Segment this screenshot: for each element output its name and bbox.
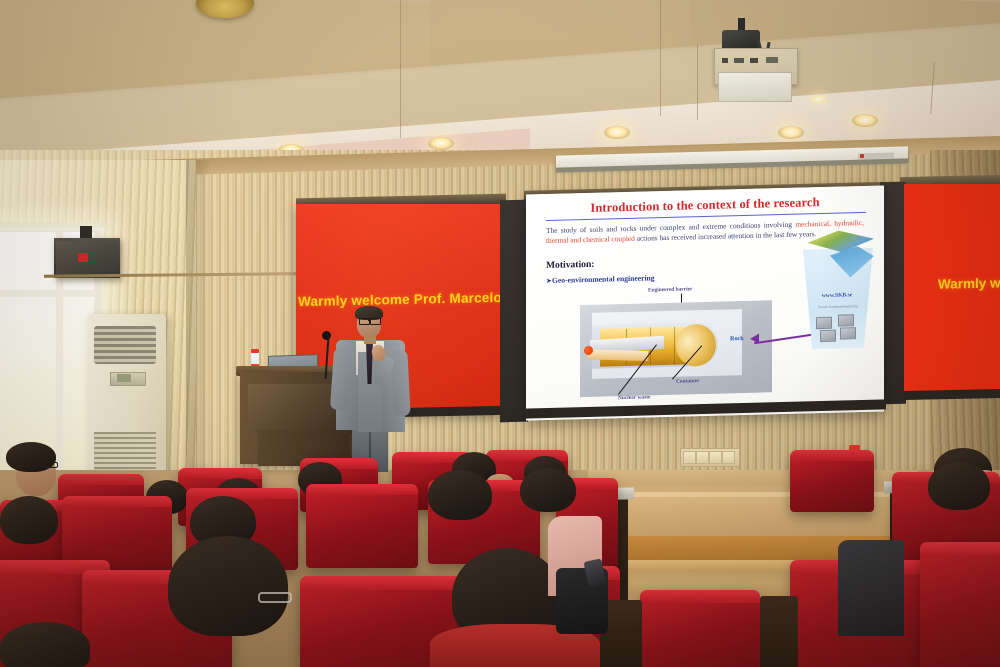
audience-head	[520, 468, 576, 512]
ceiling-cable	[697, 45, 698, 120]
diagram-label-nuclear-waste: Nuclear waste	[618, 394, 650, 401]
display-bezel-gap	[500, 200, 528, 423]
diagram-canister-seam	[674, 327, 675, 365]
projector-port	[766, 57, 778, 63]
ac-air-outlet-grille	[94, 326, 156, 364]
seat-headrest	[790, 450, 874, 461]
wall-switch[interactable]	[709, 451, 722, 464]
skb-repository-crate	[820, 330, 836, 342]
ceiling-seam	[660, 0, 661, 116]
audience-person	[838, 540, 904, 636]
seat-headrest	[178, 468, 262, 479]
auditorium-seat[interactable]	[920, 542, 1000, 667]
seat-headrest	[920, 542, 1000, 556]
eyeglasses-icon	[370, 318, 381, 325]
eyeglasses-icon	[258, 592, 292, 603]
wall-switch[interactable]	[696, 451, 709, 464]
projector-lens-panel	[718, 72, 792, 102]
ac-display	[117, 374, 131, 382]
window-mullion	[0, 290, 94, 297]
skb-repository-crate	[840, 327, 856, 339]
wall-switch[interactable]	[683, 451, 696, 464]
seat-headrest	[62, 496, 172, 507]
diagram-waste-rods	[588, 349, 648, 361]
ceiling-seam	[400, 0, 401, 138]
projector-port	[734, 58, 744, 63]
seat-headrest	[186, 488, 298, 499]
audience-head	[0, 622, 90, 667]
audience-head	[168, 536, 288, 636]
skb-repository-crate	[816, 317, 832, 329]
seat-armrest	[760, 596, 798, 667]
speaker-brand-logo	[78, 253, 88, 262]
recessed-downlight	[604, 126, 630, 139]
eyeglasses-icon	[30, 462, 58, 468]
presentation-slide: Introduction to the context of the resea…	[526, 185, 884, 420]
audience-head	[428, 470, 492, 520]
microphone-capsule	[322, 331, 331, 340]
recessed-downlight	[852, 114, 878, 127]
diagram-label-engineered-barrier: Engineered barrier	[648, 286, 692, 293]
lecture-hall-photo: Warmly welcome Prof. Marcelo Sánchez Int…	[0, 0, 1000, 667]
projector-port	[750, 58, 758, 63]
projector-port	[722, 58, 728, 63]
wall-corner-shadow	[186, 160, 212, 490]
bullet-arrow-icon: ➤	[546, 277, 552, 285]
auditorium-seat[interactable]	[306, 484, 418, 568]
screen-housing-logo	[860, 154, 864, 158]
audience-head	[928, 462, 990, 510]
recessed-downlight	[428, 137, 454, 150]
slide-motivation-heading: Motivation:	[546, 259, 595, 271]
diagram-skb-block: www.SKB.se Svensk Karnbranslehantering	[800, 230, 874, 350]
seat-headrest	[58, 474, 144, 485]
eyeglasses-bridge	[368, 320, 371, 321]
diagram-label-rock: Rock	[730, 335, 744, 342]
recessed-downlight	[810, 95, 827, 104]
diagram-arrow-head	[750, 334, 759, 344]
bottle-cap	[251, 349, 259, 353]
seat-headrest	[300, 576, 462, 590]
seat-headrest	[640, 590, 760, 603]
audience-head	[0, 496, 58, 544]
led-welcome-text: Warmly we	[938, 275, 1000, 291]
diagram-label-container: Container	[676, 378, 699, 385]
seat-headrest	[306, 484, 418, 495]
skb-repository-crate	[838, 314, 854, 326]
recessed-downlight	[778, 126, 804, 139]
wall-switch[interactable]	[722, 451, 735, 464]
